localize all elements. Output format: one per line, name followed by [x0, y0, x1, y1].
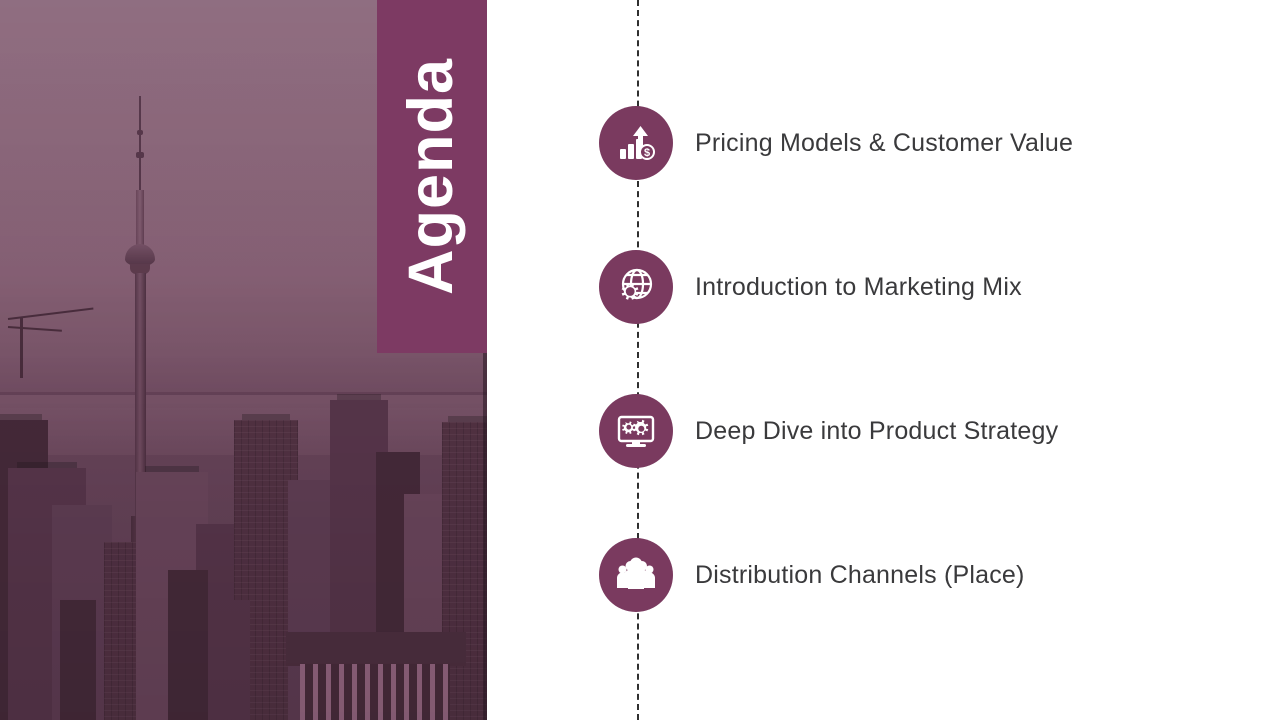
agenda-item-label: Distribution Channels (Place)	[695, 561, 1025, 590]
agenda-item-label: Deep Dive into Product Strategy	[695, 417, 1058, 446]
agenda-item-label: Introduction to Marketing Mix	[695, 273, 1022, 302]
people-group-icon	[599, 538, 673, 612]
monitor-gears-icon	[599, 394, 673, 468]
agenda-item-label: Pricing Models & Customer Value	[695, 129, 1073, 158]
agenda-list: $ Pricing Models & Customer Value	[0, 0, 1280, 720]
agenda-item-product-strategy[interactable]: Deep Dive into Product Strategy	[599, 394, 1058, 468]
agenda-item-marketing-mix[interactable]: Introduction to Marketing Mix	[599, 250, 1022, 324]
agenda-item-pricing-models[interactable]: $ Pricing Models & Customer Value	[599, 106, 1073, 180]
globe-gear-icon	[599, 250, 673, 324]
bar-chart-arrow-dollar-icon: $	[599, 106, 673, 180]
agenda-slide: Agenda $ Pricing Models & Customer Value	[0, 0, 1280, 720]
page-title: Agenda	[401, 58, 464, 295]
agenda-item-distribution-channels[interactable]: Distribution Channels (Place)	[599, 538, 1025, 612]
svg-text:$: $	[644, 147, 650, 159]
title-banner: Agenda	[377, 0, 487, 353]
